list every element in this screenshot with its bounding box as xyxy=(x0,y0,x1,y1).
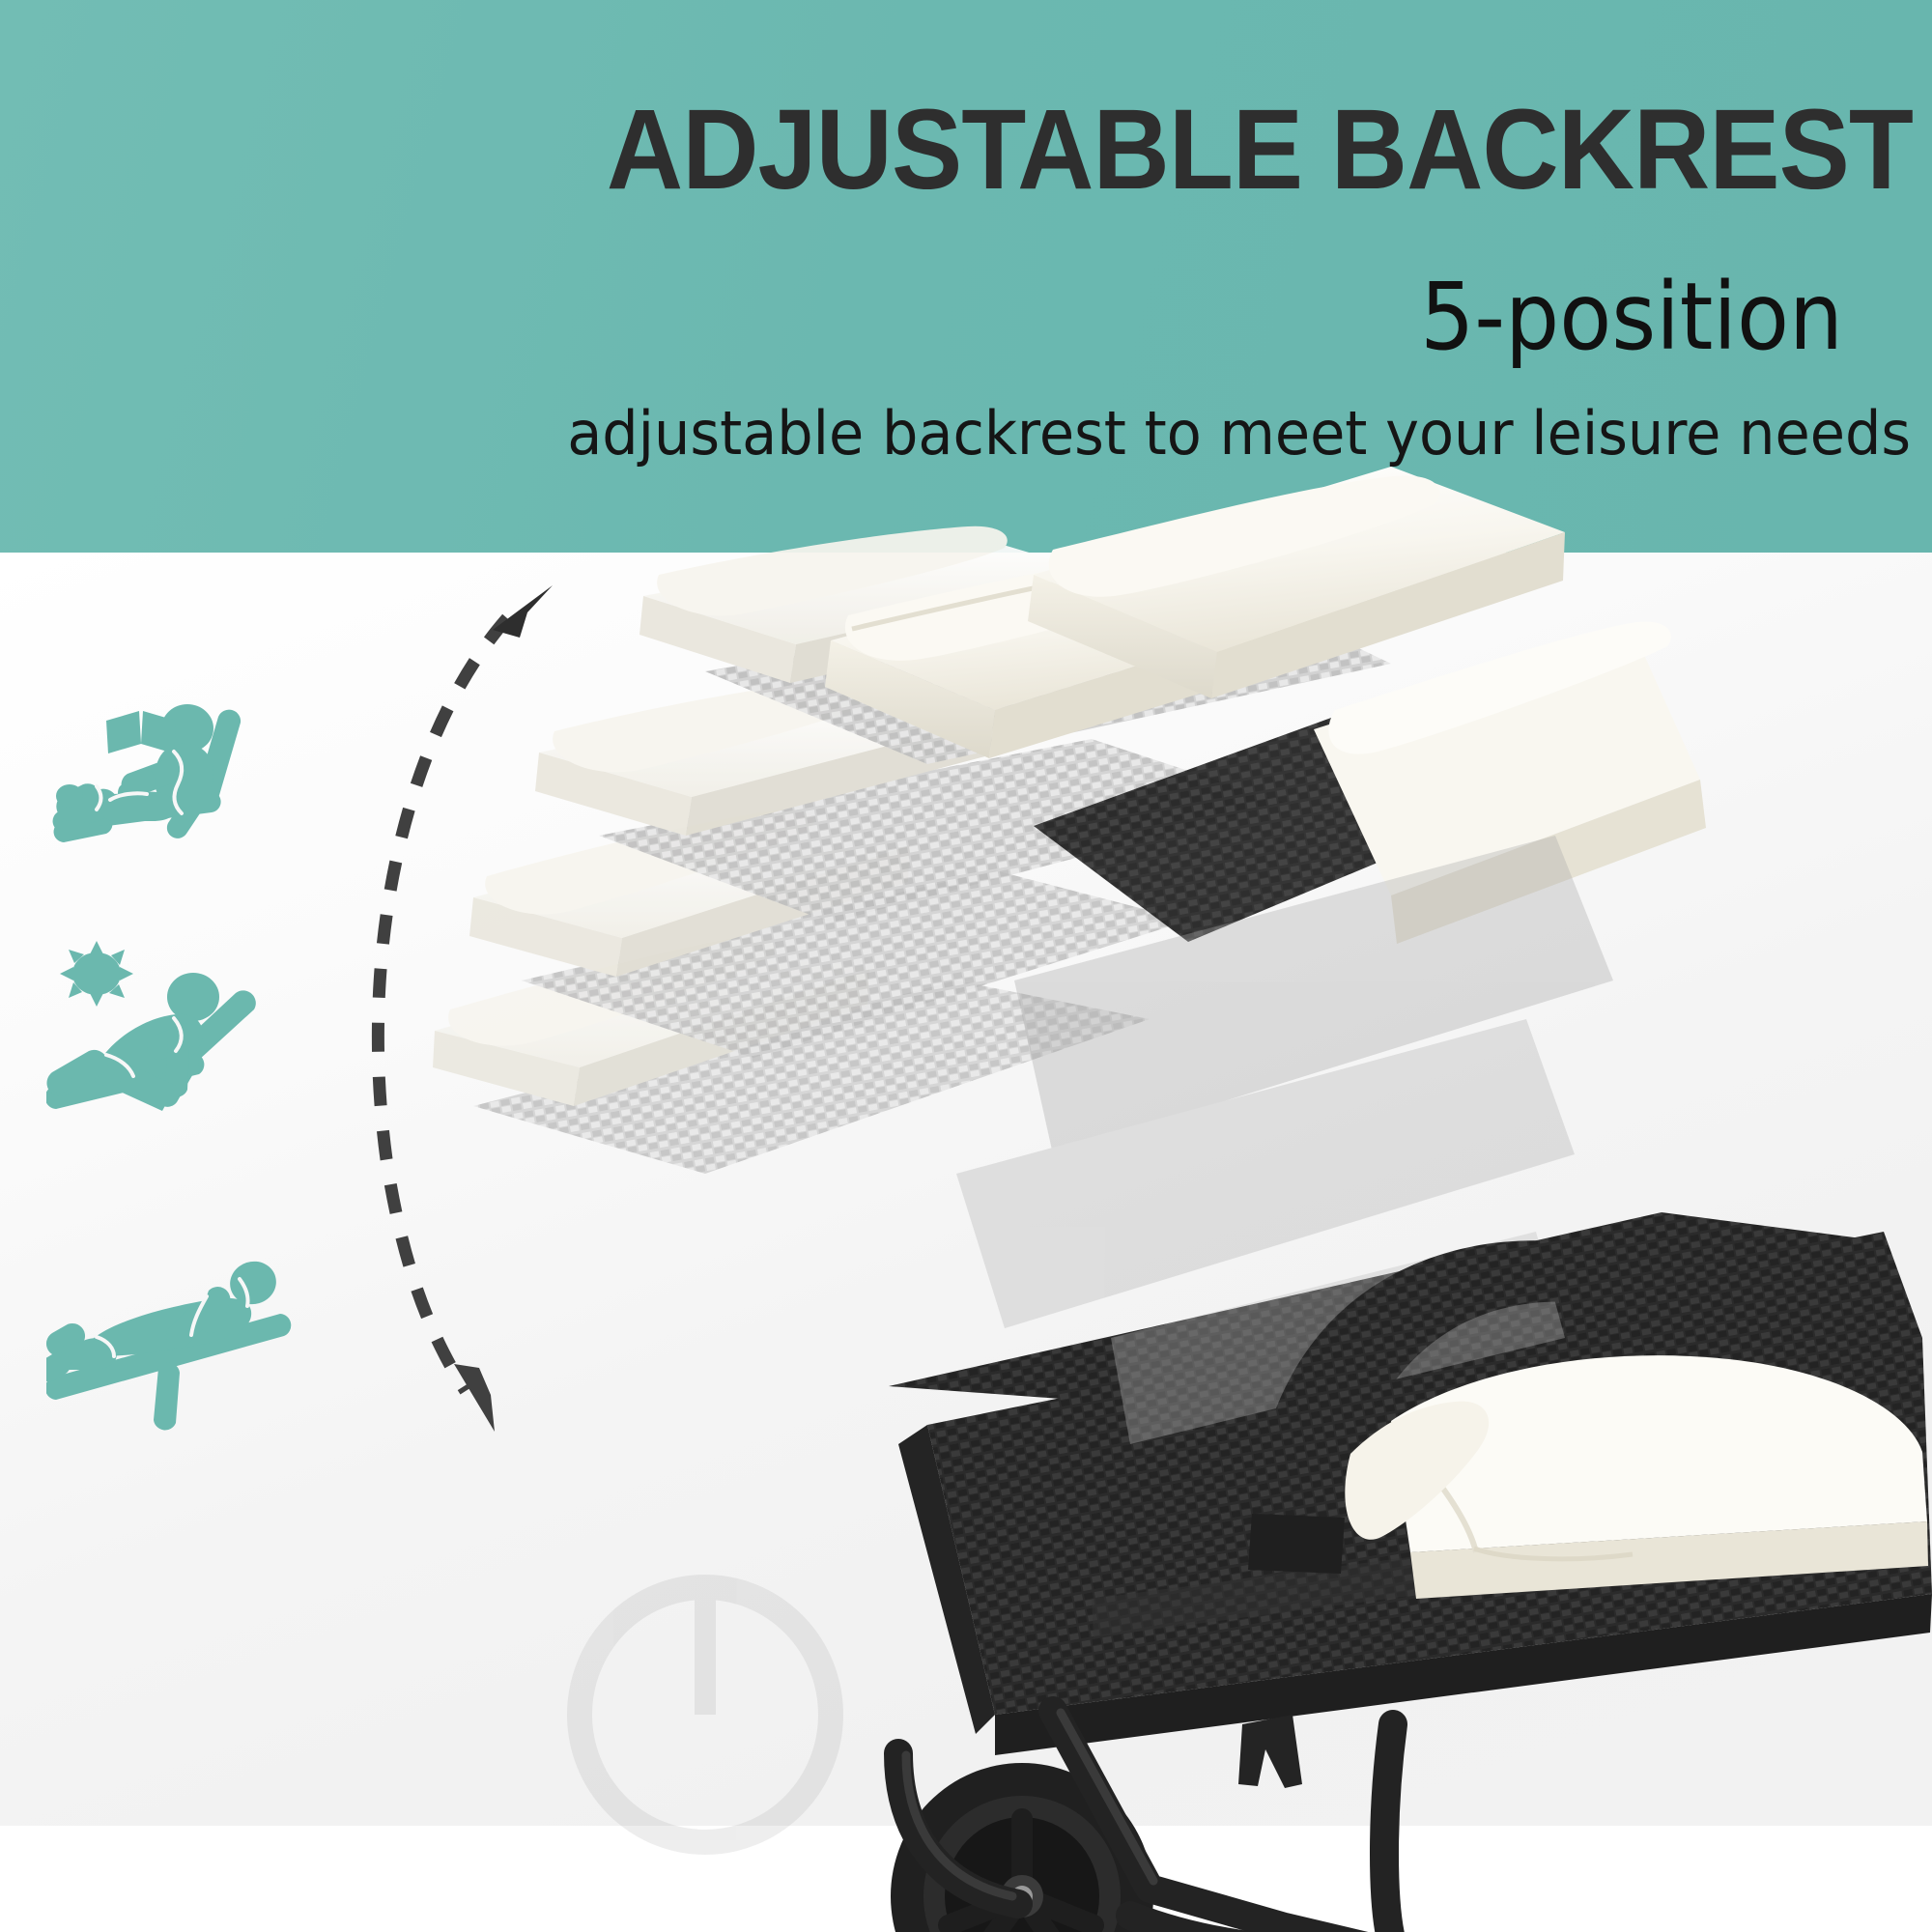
subhead-primary: 5-position xyxy=(1420,270,1843,363)
person-lying-flat-icon xyxy=(46,1233,298,1440)
sun-icon xyxy=(60,941,133,1007)
person-sunbathing-icon xyxy=(46,941,298,1149)
lounger-foot-stopper xyxy=(1238,1715,1302,1788)
product-feature-banner: ADJUSTABLE BACKREST 5-position adjustabl… xyxy=(0,0,1932,1932)
rattan-chaise-lounge-sun-lounger xyxy=(415,440,1932,1835)
page-title: ADJUSTABLE BACKREST xyxy=(206,93,1913,207)
feature-icon-column xyxy=(46,692,307,1455)
person-reading-reclined-icon xyxy=(46,692,298,899)
wheel-motion-ghost xyxy=(580,1587,831,1842)
